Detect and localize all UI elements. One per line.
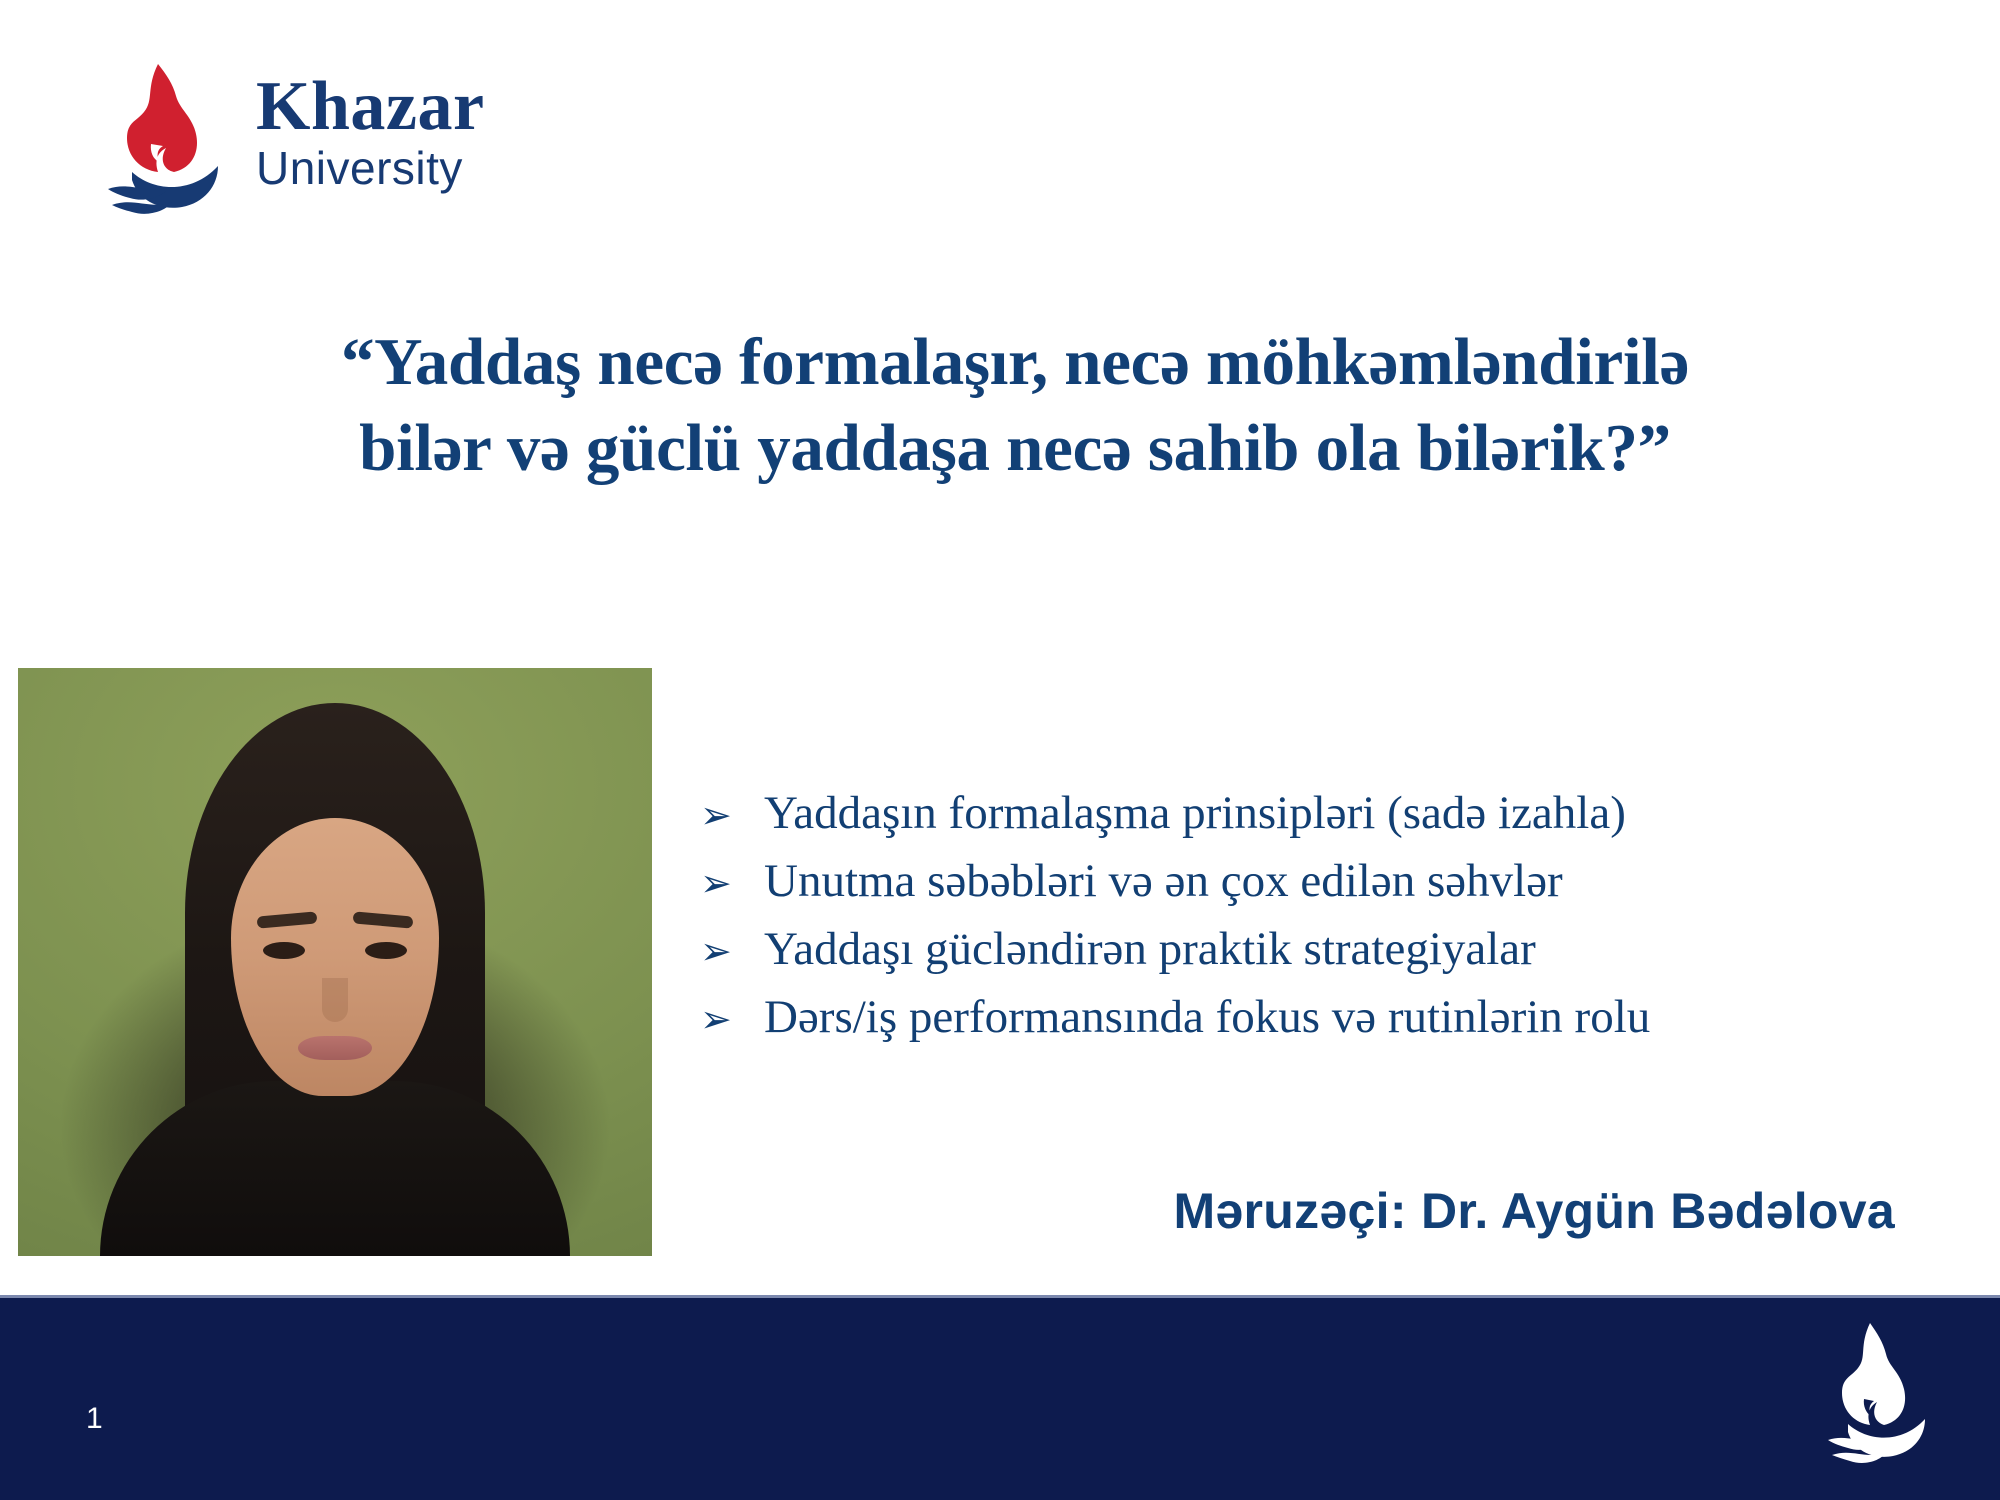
list-item-label: Unutma səbəbləri və ən çox edilən səhvlə… [764, 850, 1563, 912]
arrow-bullet-icon: ➢ [700, 796, 764, 834]
slide-title-line-1: “Yaddaş necə formalaşır, necə möhkəmlənd… [120, 320, 1910, 406]
list-item-label: Yaddaşı gücləndirən praktik strategiyala… [764, 918, 1536, 980]
slide-title-line-2: bilər və güclü yaddaşa necə sahib ola bi… [120, 406, 1910, 492]
arrow-bullet-icon: ➢ [700, 864, 764, 902]
agenda-bullet-list: ➢ Yaddaşın formalaşma prinsipləri (sadə … [700, 782, 1930, 1054]
page-number: 1 [86, 1402, 103, 1436]
footer-flame-boat-icon [1818, 1320, 1946, 1470]
portrait-eye-left [263, 942, 305, 959]
flame-boat-logo-icon [96, 60, 246, 215]
arrow-bullet-icon: ➢ [700, 932, 764, 970]
portrait-shoulders [100, 1081, 570, 1256]
speaker-portrait-photo [18, 668, 652, 1256]
list-item: ➢ Yaddaşın formalaşma prinsipləri (sadə … [700, 782, 1930, 844]
list-item: ➢ Yaddaşı gücləndirən praktik strategiya… [700, 918, 1930, 980]
portrait-nose [322, 978, 348, 1022]
list-item-label: Dərs/iş performansında fokus və rutinlər… [764, 986, 1650, 1048]
list-item: ➢ Unutma səbəbləri və ən çox edilən səhv… [700, 850, 1930, 912]
logo-name-university: University [256, 144, 576, 192]
arrow-bullet-icon: ➢ [700, 1000, 764, 1038]
list-item-label: Yaddaşın formalaşma prinsipləri (sadə iz… [764, 782, 1626, 844]
presenter-credit: Məruzəçi: Dr. Aygün Bədəlova [1173, 1182, 1895, 1240]
khazar-university-logo: Khazar University [96, 60, 576, 220]
list-item: ➢ Dərs/iş performansında fokus və rutinl… [700, 986, 1930, 1048]
logo-name-khazar: Khazar [256, 72, 576, 142]
presentation-slide: Khazar University “Yaddaş necə formalaşı… [0, 0, 2000, 1500]
portrait-eye-right [365, 942, 407, 959]
slide-footer-bar: 1 [0, 1295, 2000, 1500]
portrait-mouth [298, 1036, 372, 1060]
logo-wordmark: Khazar University [256, 72, 576, 192]
portrait-eyebrow-left [257, 911, 318, 928]
slide-title: “Yaddaş necə formalaşır, necə möhkəmlənd… [120, 320, 1910, 492]
portrait-eyebrow-right [353, 911, 414, 928]
portrait-face [231, 818, 439, 1096]
